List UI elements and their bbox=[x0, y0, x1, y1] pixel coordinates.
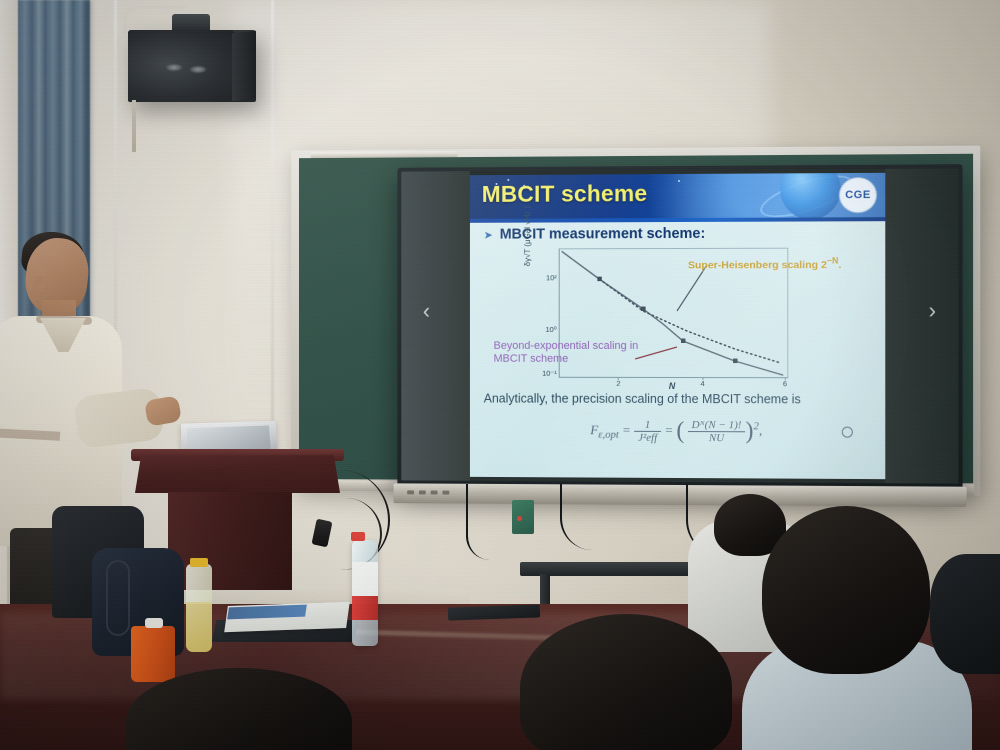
water-bottle-left-label-white bbox=[352, 562, 378, 596]
audience-member-center-head bbox=[520, 614, 732, 750]
socket-indicator-light bbox=[517, 516, 522, 521]
bezel-button-1[interactable] bbox=[407, 490, 414, 494]
slide-next-chevron-icon[interactable]: › bbox=[929, 298, 936, 324]
formula-lhs: F bbox=[590, 422, 598, 437]
formula-equals-2: = bbox=[664, 422, 673, 437]
orange-container bbox=[131, 626, 175, 682]
bezel-button-4[interactable] bbox=[442, 491, 449, 495]
bezel-button-2[interactable] bbox=[419, 490, 426, 494]
slide-bullet-row: ➤ MBCIT measurement scheme: bbox=[484, 226, 706, 243]
chart-ytick-2: 10⁻¹ bbox=[542, 369, 557, 378]
juice-bottle-liquid bbox=[186, 602, 212, 652]
annotation-leader-purple bbox=[635, 347, 677, 359]
presenter-ear bbox=[34, 276, 46, 292]
cge-logo-text: CGE bbox=[845, 189, 871, 201]
water-bottle-left-cap bbox=[351, 532, 365, 541]
cge-logo: CGE bbox=[839, 177, 877, 213]
formula-comma: , bbox=[759, 423, 762, 438]
water-bottle-left-label-red bbox=[352, 596, 378, 620]
interactive-display[interactable]: MBCIT scheme CGE ➤ MBCIT measurement sch… bbox=[397, 164, 962, 492]
speaker-driver-left bbox=[166, 64, 182, 71]
annotation-super-exponent: −N bbox=[827, 256, 839, 266]
display-cable-left bbox=[466, 484, 490, 560]
formula-lhs-subscript: ε,opt bbox=[598, 429, 619, 441]
wall-speaker bbox=[128, 30, 256, 102]
screen-letterbox-right bbox=[885, 168, 958, 483]
orange-container-cap bbox=[145, 618, 163, 628]
chart-ytick-0: 10² bbox=[546, 273, 557, 282]
slide-prev-chevron-icon[interactable]: ‹ bbox=[423, 298, 430, 324]
annotation-beyond-line2: MBCIT scheme bbox=[494, 352, 639, 365]
precision-scaling-formula: Fε,opt = 1 J²eff = ( Dᴺ(N − 1)! NU )2, bbox=[470, 417, 885, 446]
screen-letterbox-left bbox=[401, 171, 470, 481]
formula-paren-open: ( bbox=[676, 418, 684, 444]
formula-frac1-numerator: 1 bbox=[634, 419, 661, 432]
banner-underline bbox=[470, 217, 885, 223]
slide-title: MBCIT scheme bbox=[482, 180, 648, 208]
water-bottle-left bbox=[352, 540, 378, 646]
formula-equals-1: = bbox=[622, 422, 631, 437]
speaker-wall-bracket bbox=[132, 100, 136, 152]
slide-analytic-sentence: Analytically, the precision scaling of t… bbox=[484, 392, 875, 407]
series-marker-2 bbox=[641, 307, 645, 311]
annotation-leader-gold bbox=[677, 265, 707, 311]
annotation-beyond-exponential: Beyond-exponential scaling in MBCIT sche… bbox=[494, 340, 639, 365]
formula-frac1-denominator: J²eff bbox=[634, 432, 661, 444]
annotation-super-period: . bbox=[838, 259, 841, 271]
slide-circle-marker bbox=[842, 427, 853, 438]
display-screen[interactable]: MBCIT scheme CGE ➤ MBCIT measurement sch… bbox=[401, 168, 958, 483]
presentation-slide[interactable]: MBCIT scheme CGE ➤ MBCIT measurement sch… bbox=[470, 173, 885, 479]
audience-member-right-shoulder bbox=[930, 554, 1000, 674]
chalkboard-top-clip bbox=[311, 151, 458, 158]
formula-frac2-numerator: Dᴺ(N − 1)! bbox=[688, 419, 746, 432]
wall-power-socket bbox=[512, 500, 534, 534]
bullet-arrow-icon: ➤ bbox=[484, 229, 493, 242]
chart-y-axis-label: δγ√T (μGal √Hz ) bbox=[523, 173, 532, 267]
annotation-super-heisenberg: Super-Heisenberg scaling 2−N. bbox=[688, 256, 841, 272]
star-decoration-4 bbox=[678, 180, 680, 182]
annotation-super-text: Super-Heisenberg scaling 2 bbox=[688, 259, 827, 271]
chart-ytick-1: 10⁰ bbox=[545, 325, 556, 334]
juice-bottle-cap bbox=[190, 558, 208, 567]
podium-desktop bbox=[135, 455, 340, 493]
audience-member-blue-head bbox=[762, 506, 930, 674]
speaker-side-panel bbox=[232, 31, 256, 102]
chart-x-axis-label: N bbox=[559, 381, 787, 391]
series-marker-3 bbox=[681, 339, 685, 344]
annotation-beyond-line1: Beyond-exponential scaling in bbox=[494, 340, 639, 353]
formula-fraction-1: 1 J²eff bbox=[634, 419, 661, 444]
formula-fraction-2: Dᴺ(N − 1)! NU bbox=[688, 419, 746, 444]
series-marker-4 bbox=[733, 359, 738, 364]
scaling-chart: δγ√T (μGal √Hz ) 10² 10⁰ 10⁻¹ 2 4 6 bbox=[494, 247, 857, 384]
speaker-driver-right bbox=[190, 66, 206, 73]
display-bezel-buttons[interactable] bbox=[407, 490, 449, 494]
backpack-strap bbox=[106, 560, 130, 636]
lecture-hall-photo: MBCIT scheme CGE ➤ MBCIT measurement sch… bbox=[0, 0, 1000, 750]
bezel-button-3[interactable] bbox=[431, 490, 438, 494]
formula-frac2-denominator: NU bbox=[688, 432, 746, 444]
wall-seam-right bbox=[271, 0, 274, 470]
